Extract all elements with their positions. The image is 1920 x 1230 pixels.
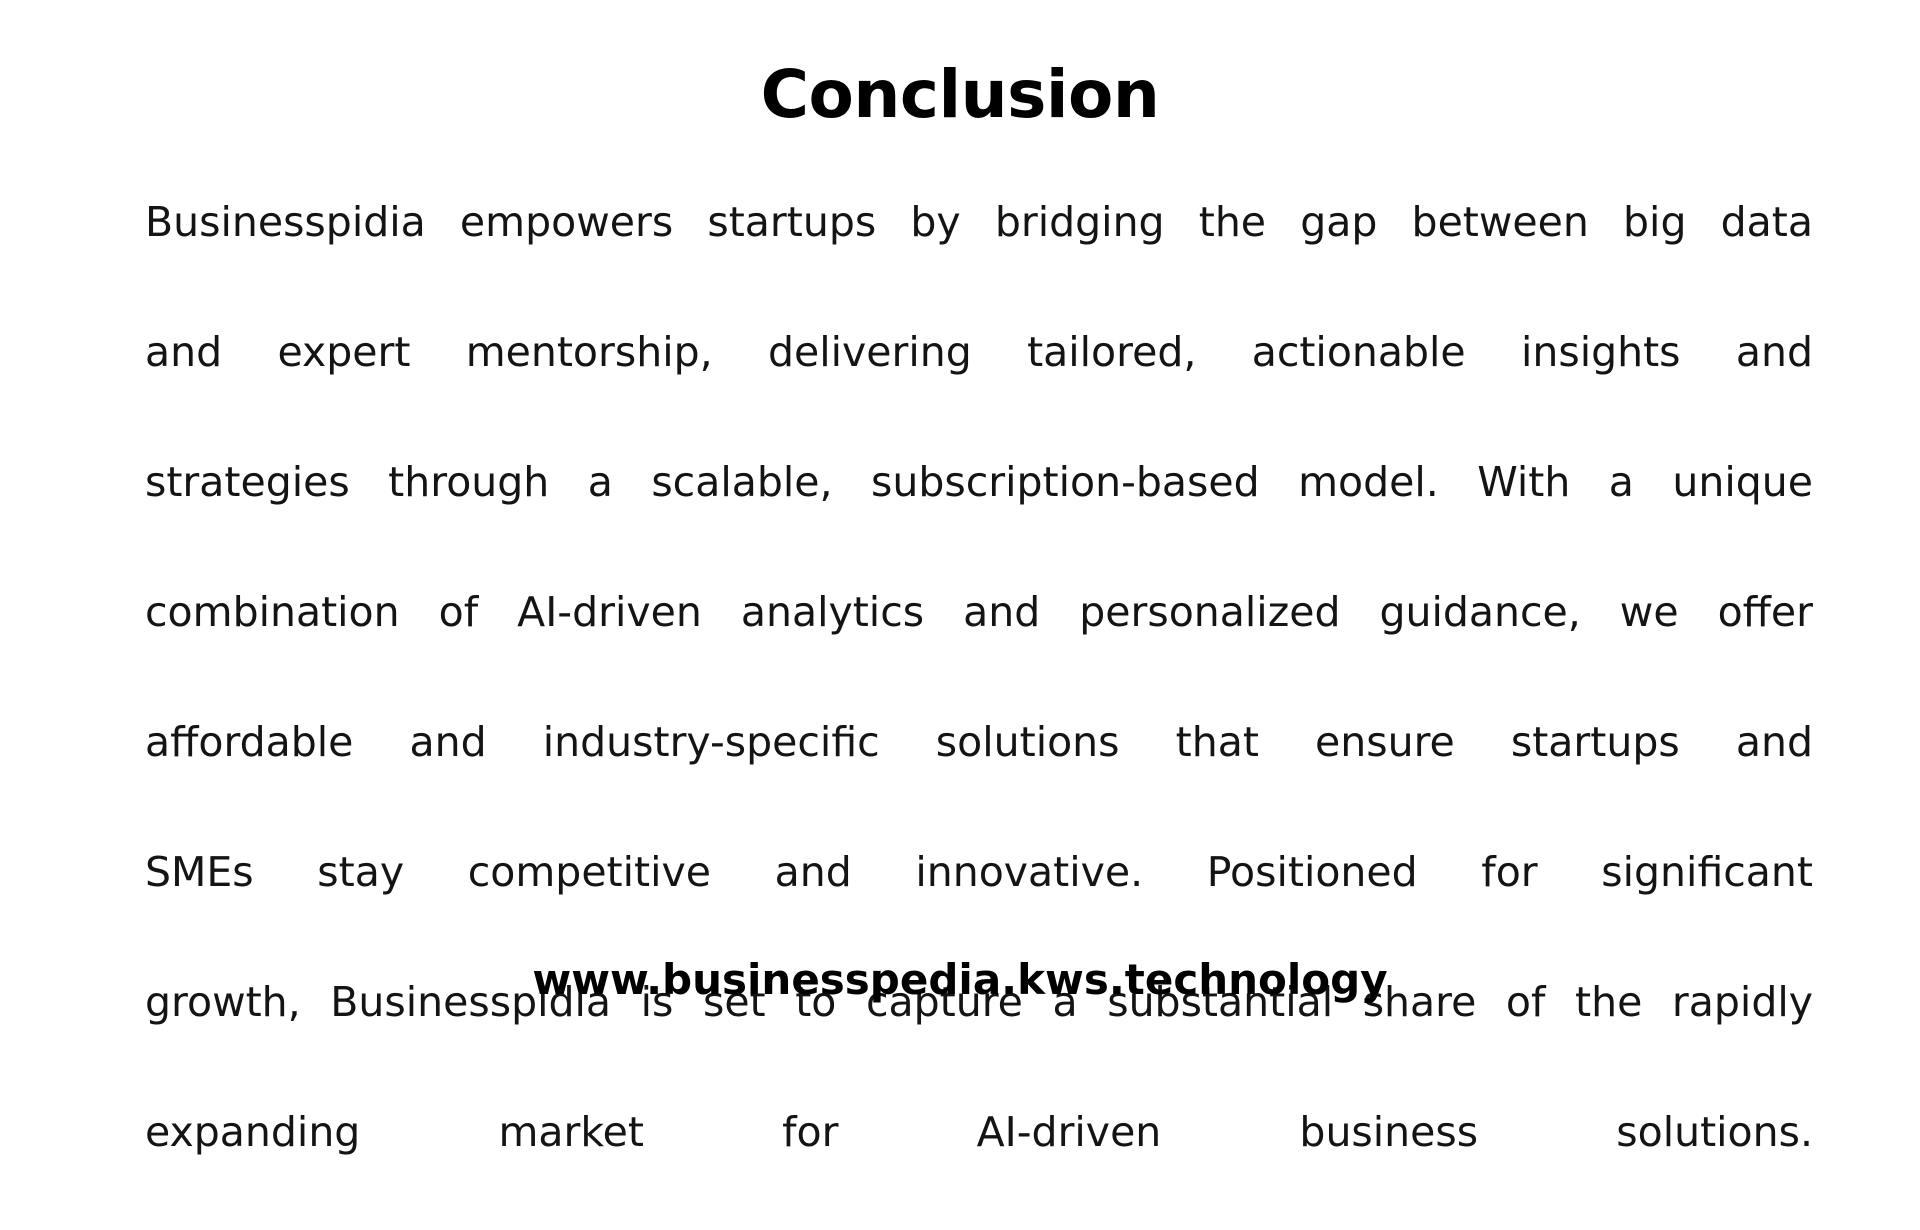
body-line: Businesspidia empowers startups by bridg… xyxy=(145,190,1813,320)
body-line: expanding market for AI-driven business … xyxy=(145,1100,1813,1230)
body-text-block: Businesspidia empowers startups by bridg… xyxy=(145,190,1813,1230)
body-line: combination of AI-driven analytics and p… xyxy=(145,580,1813,710)
body-line: and expert mentorship, delivering tailor… xyxy=(145,320,1813,450)
slide-canvas: Conclusion Businesspidia empowers startu… xyxy=(0,0,1920,1080)
conclusion-paragraph: Businesspidia empowers startups by bridg… xyxy=(145,190,1813,1230)
body-line: affordable and industry-specific solutio… xyxy=(145,710,1813,840)
body-line: strategies through a scalable, subscript… xyxy=(145,450,1813,580)
page-title: Conclusion xyxy=(0,56,1920,134)
footer-website-url[interactable]: www.businesspedia.kws.technology xyxy=(0,955,1920,1005)
body-line: SMEs stay competitive and innovative. Po… xyxy=(145,840,1813,970)
